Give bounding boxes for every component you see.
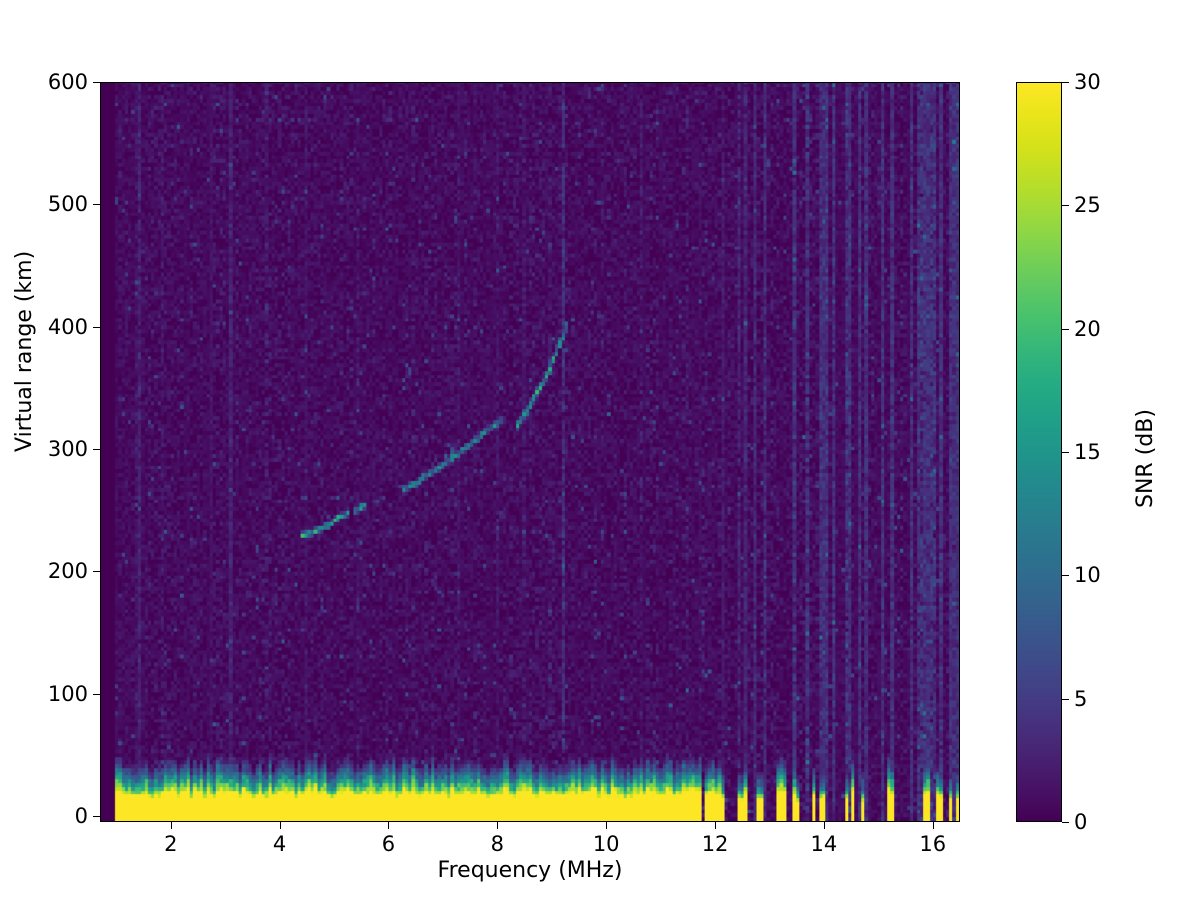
x-tick-label: 10 (593, 834, 620, 855)
y-axis-title: Virtual range (km) (12, 251, 37, 452)
y-tick-label: 500 (48, 194, 88, 215)
ionogram-heatmap[interactable] (101, 83, 959, 821)
x-tick-mark (824, 822, 825, 829)
colorbar-tick-label: 30 (1074, 72, 1101, 93)
x-tick-mark (933, 822, 934, 829)
y-tick-label: 0 (75, 806, 88, 827)
y-tick-label: 400 (48, 317, 88, 338)
y-tick-mark (93, 571, 100, 572)
x-tick-label: 16 (919, 834, 946, 855)
x-tick-mark (715, 822, 716, 829)
y-tick-mark (93, 694, 100, 695)
colorbar-tick-mark (1062, 452, 1069, 453)
y-tick-mark (93, 449, 100, 450)
y-tick-label: 300 (48, 439, 88, 460)
x-tick-mark (606, 822, 607, 829)
colorbar-tick-label: 20 (1074, 319, 1101, 340)
colorbar-tick-label: 5 (1074, 689, 1087, 710)
y-tick-mark (93, 327, 100, 328)
y-tick-mark (93, 82, 100, 83)
colorbar[interactable] (1016, 82, 1062, 822)
y-tick-label: 200 (48, 561, 88, 582)
y-tick-mark (93, 204, 100, 205)
x-tick-mark (280, 822, 281, 829)
colorbar-tick-label: 25 (1074, 195, 1101, 216)
y-tick-label: 600 (48, 72, 88, 93)
x-tick-label: 4 (273, 834, 286, 855)
x-tick-mark (388, 822, 389, 829)
colorbar-tick-mark (1062, 575, 1069, 576)
x-tick-label: 12 (702, 834, 729, 855)
ionogram-axes[interactable] (100, 82, 960, 822)
x-tick-label: 8 (491, 834, 504, 855)
colorbar-tick-mark (1062, 205, 1069, 206)
colorbar-tick-mark (1062, 699, 1069, 700)
ionogram-figure: IRF Kiruna Ionosonde KI167 2025-09-28 15… (0, 0, 1200, 900)
x-tick-label: 14 (811, 834, 838, 855)
x-tick-mark (497, 822, 498, 829)
y-tick-label: 100 (48, 684, 88, 705)
y-tick-mark (93, 816, 100, 817)
colorbar-tick-mark (1062, 329, 1069, 330)
colorbar-tick-label: 15 (1074, 442, 1101, 463)
colorbar-tick-label: 0 (1074, 812, 1087, 833)
x-tick-label: 2 (164, 834, 177, 855)
x-axis-title: Frequency (MHz) (100, 858, 960, 883)
colorbar-tick-mark (1062, 822, 1069, 823)
colorbar-title: SNR (dB) (1133, 409, 1158, 508)
x-tick-label: 6 (382, 834, 395, 855)
x-tick-mark (171, 822, 172, 829)
colorbar-tick-mark (1062, 82, 1069, 83)
colorbar-gradient (1016, 82, 1062, 822)
colorbar-tick-label: 10 (1074, 565, 1101, 586)
